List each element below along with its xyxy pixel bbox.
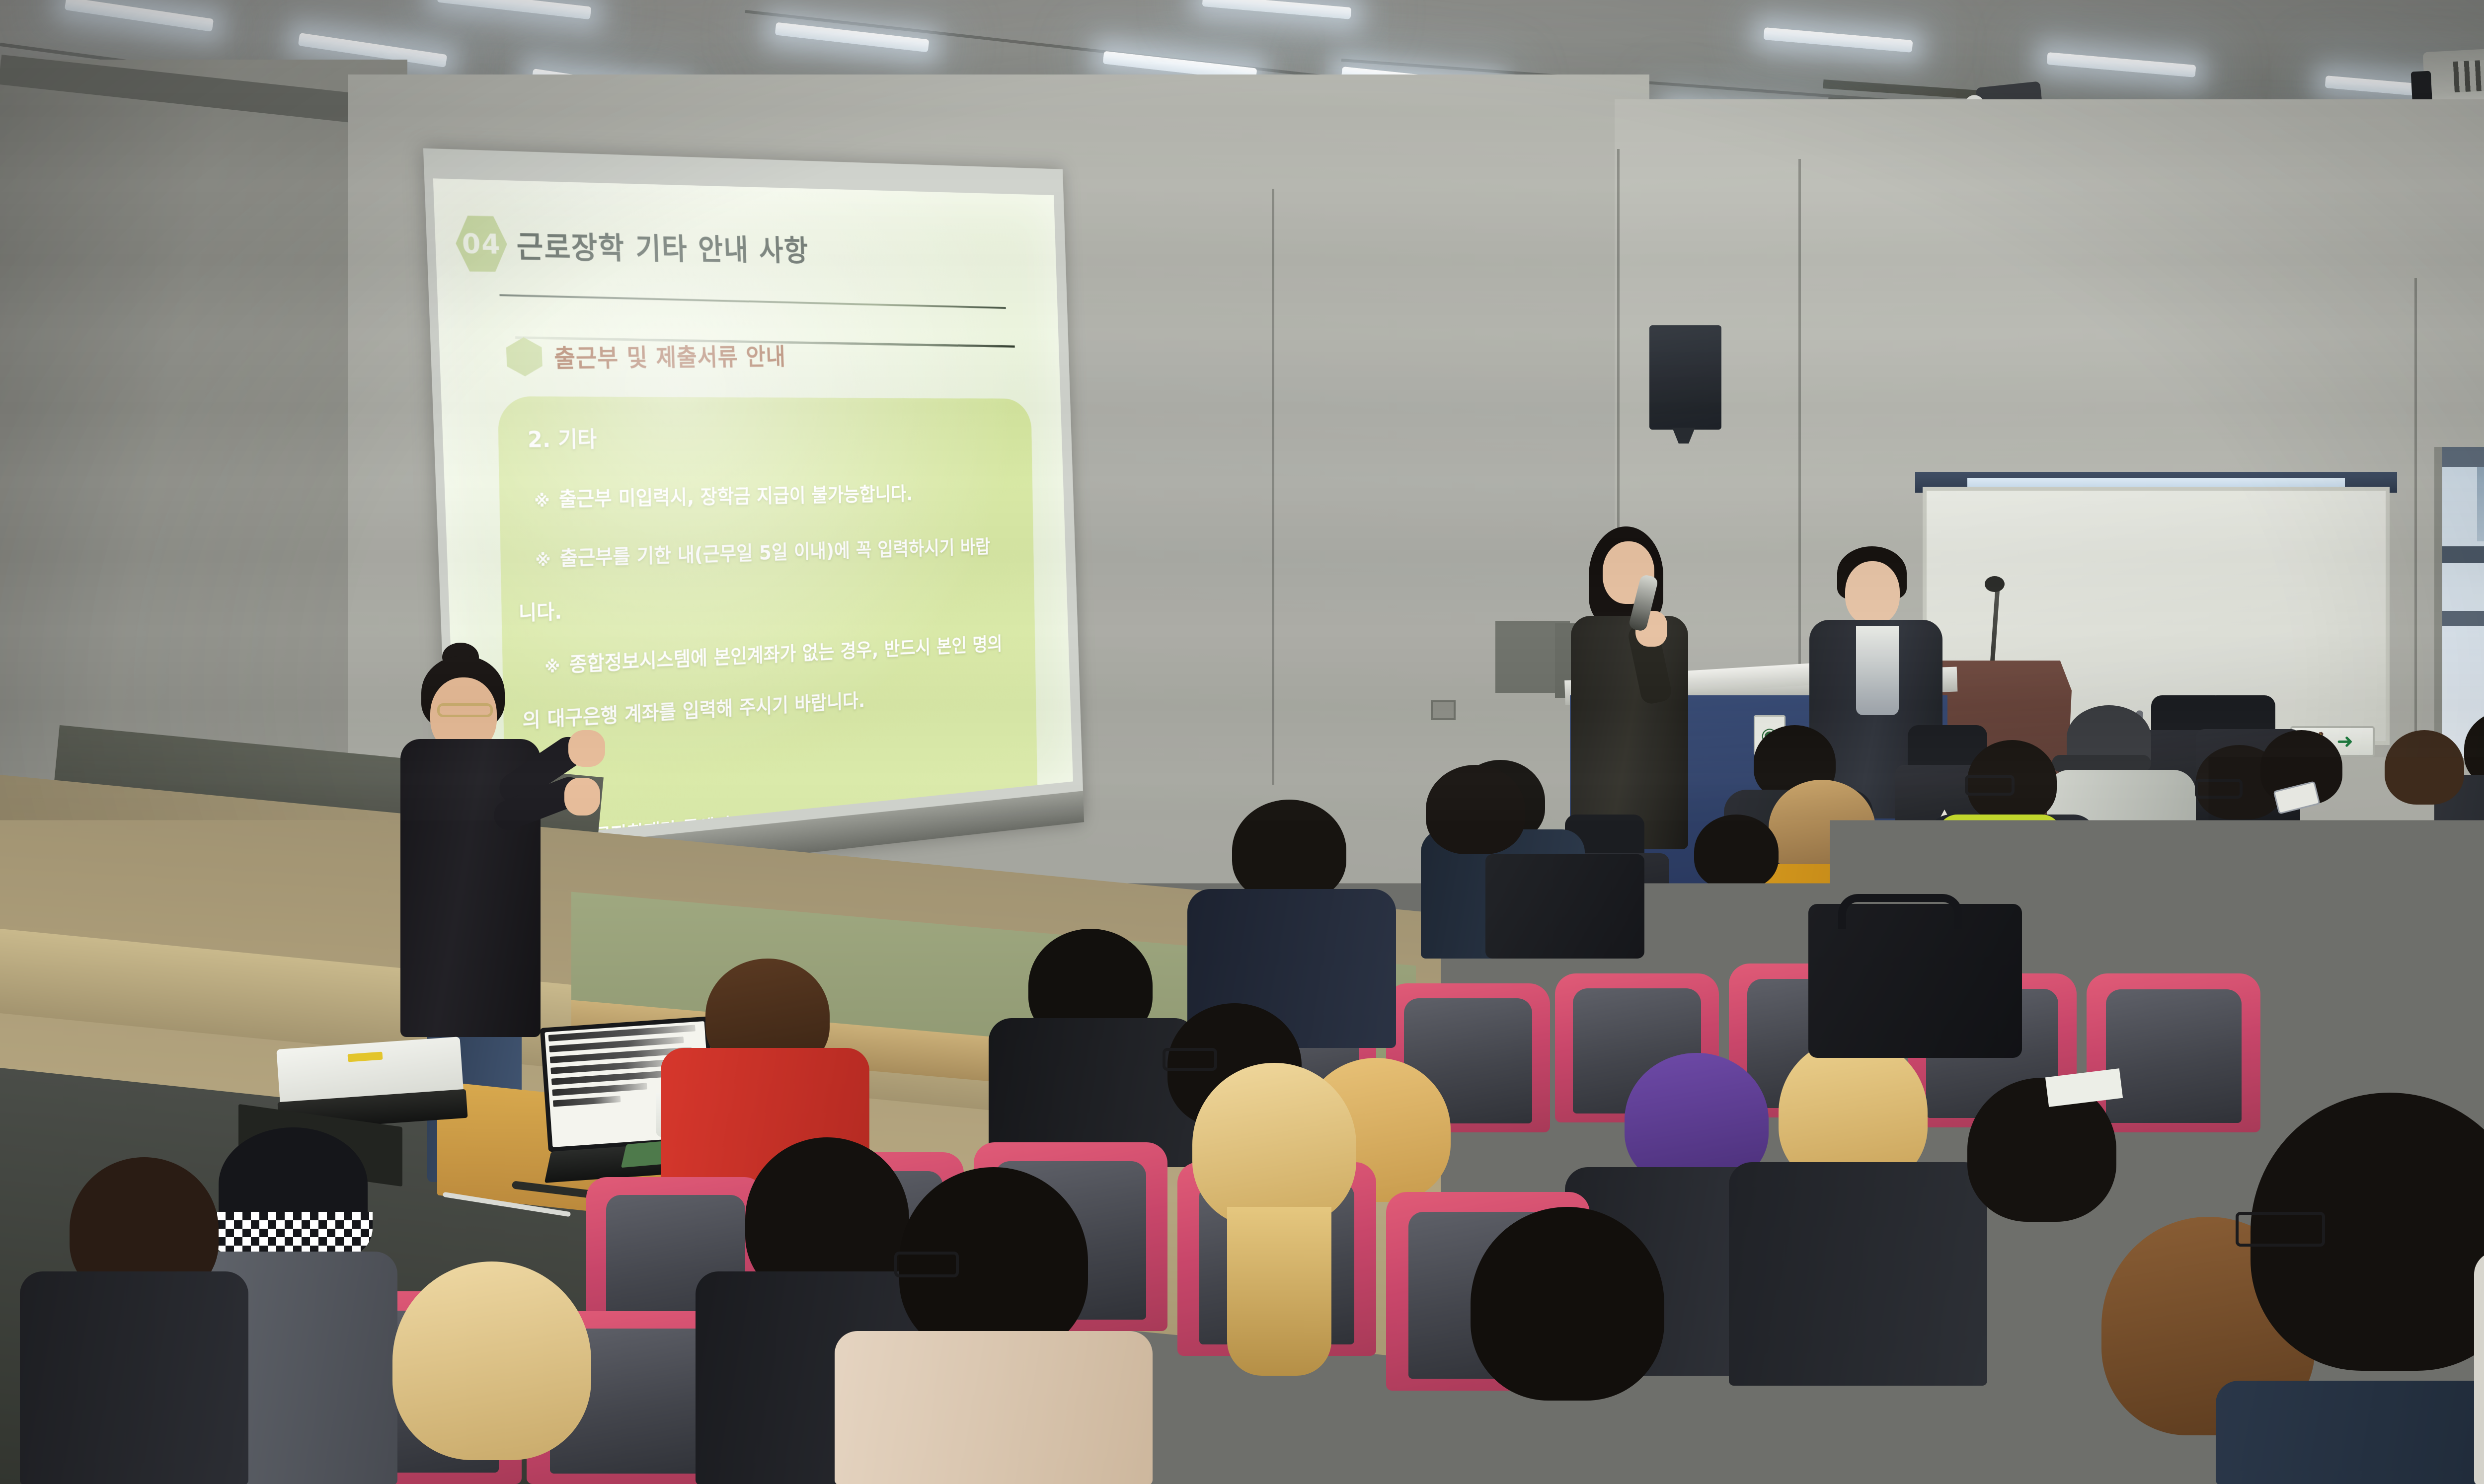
auditorium-seat[interactable] <box>2295 839 2454 988</box>
eyeglasses-icon <box>1163 1048 1217 1071</box>
backpack <box>1485 854 1644 959</box>
cap-brim-houndstooth <box>209 1212 373 1258</box>
eyeglasses-icon <box>2236 1212 2325 1247</box>
title-divider <box>499 294 1006 309</box>
bullet-text: 종합정보시스템에 본인계좌가 없는 경우, 반드시 본인 명의 <box>569 633 1002 676</box>
bullet-text: 출근부를 기한 내(근무일 5일 이내)에 꼭 입력하시기 바랍 <box>560 535 991 570</box>
head <box>1845 561 1900 625</box>
slide-section-title: 근로장학 기타 안내 사항 <box>516 223 809 270</box>
head <box>2385 730 2464 805</box>
wall-seam <box>1798 159 1801 730</box>
right-window <box>2434 447 2484 765</box>
cap-brim <box>2052 755 2151 772</box>
eyeglasses-icon <box>894 1252 959 1277</box>
bullet-marker: ※ <box>534 491 550 511</box>
head <box>1192 1063 1356 1227</box>
lecture-hall-scene: 04 근로장학 기타 안내 사항 출근부 및 제출서류 안내 2. 기타 ※출근… <box>0 0 2484 1484</box>
head <box>1471 1207 1664 1401</box>
head <box>1694 815 1779 889</box>
auditorium-seat[interactable] <box>2136 844 2290 988</box>
hoodie <box>835 1331 1153 1484</box>
head <box>1769 780 1875 877</box>
eyeglasses-icon <box>2195 779 2243 799</box>
coat <box>20 1271 248 1484</box>
wall-seam <box>1272 189 1274 785</box>
content-heading: 2. 기타 <box>527 422 597 454</box>
window-frame-bar <box>2442 611 2484 626</box>
fur-coat <box>2474 1252 2484 1484</box>
window-glass <box>2477 467 2484 541</box>
cube-bullet-icon <box>506 337 543 376</box>
eyeglasses-icon <box>437 703 493 717</box>
head <box>392 1261 591 1460</box>
scarf <box>1938 815 2062 849</box>
bullet-row: ※출근부를 기한 내(근무일 5일 이내)에 꼭 입력하시기 바랍 <box>535 531 991 572</box>
head <box>1232 800 1346 901</box>
window-frame-bar <box>2442 546 2484 563</box>
auditorium-seat[interactable] <box>2454 839 2484 993</box>
bullet-continuation: 니다. <box>518 595 562 627</box>
slide-subheader: 출근부 및 제출서류 안내 <box>506 336 786 376</box>
bag-handle <box>1838 894 1962 929</box>
bullet-marker: ※ <box>535 551 551 571</box>
exit-arrow-icon: ➜ <box>2336 730 2353 753</box>
bullet-row: ※종합정보시스템에 본인계좌가 없는 경우, 반드시 본인 명의 <box>544 629 1003 679</box>
microphone-icon <box>1985 576 2005 592</box>
auditorium-seat[interactable] <box>2087 973 2260 1132</box>
wall-speaker-icon <box>1649 325 1721 430</box>
shirt <box>1856 626 1899 715</box>
coat <box>1729 1162 1987 1386</box>
head <box>1426 765 1525 854</box>
slide-header: 04 근로장학 기타 안내 사항 <box>455 214 810 276</box>
slide-section-number: 04 <box>455 214 508 274</box>
power-outlet-icon <box>1431 700 1456 720</box>
hand-signing <box>564 778 600 816</box>
window-frame-bar <box>2442 447 2484 467</box>
bullet-text: 출근부 미입력시, 장학금 지급이 불가능합니다. <box>558 483 913 511</box>
slide-subsection-title: 출근부 및 제출서류 안내 <box>553 338 786 374</box>
projector-vent <box>2453 57 2484 92</box>
shirt <box>2216 1381 2484 1484</box>
wall-seam <box>2414 278 2417 775</box>
bullet-row: ※출근부 미입력시, 장학금 지급이 불가능합니다. <box>534 478 913 513</box>
eyeglasses-icon <box>1965 775 2015 796</box>
ponytail <box>1227 1207 1331 1376</box>
hand-signing <box>568 730 605 767</box>
